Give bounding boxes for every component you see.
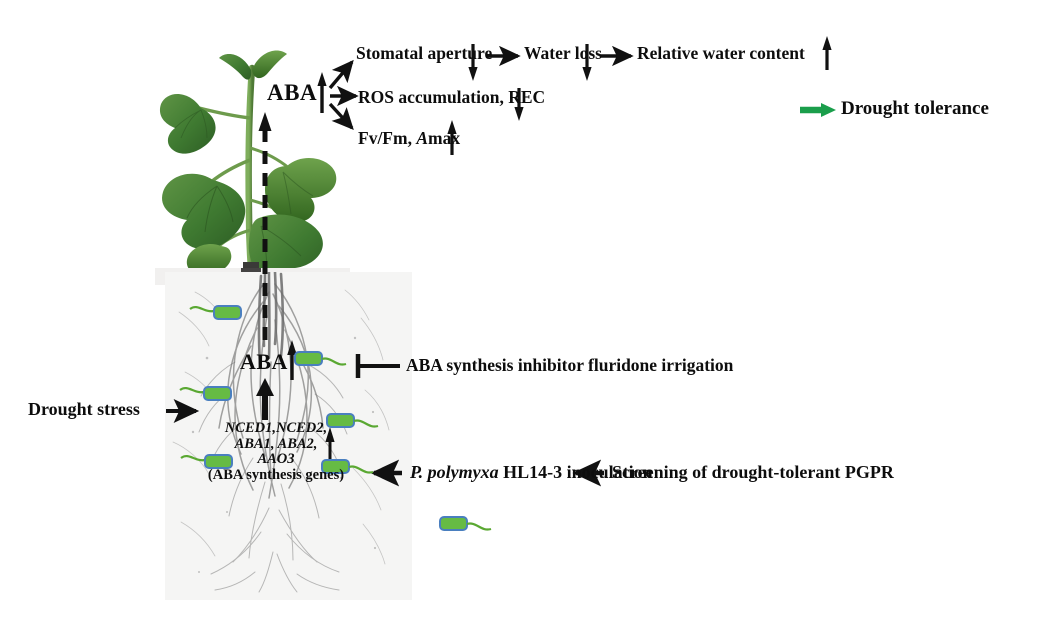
genes-line-3: AAO3 <box>194 452 358 468</box>
bacterium-icon <box>190 306 241 319</box>
fluridone-inhibitor-label: ABA synthesis inhibitor fluridone irriga… <box>406 355 733 376</box>
aba-synthesis-genes-block: NCED1,NCED2, ABA1, ABA2, AAO3 (ABA synth… <box>194 421 358 483</box>
root-aba-label: ABA <box>240 349 288 375</box>
photosynthesis-label: Fv/Fm, Amax <box>358 128 460 149</box>
amax-suffix: max <box>428 128 460 148</box>
shoot-aba-label: ABA <box>267 80 317 106</box>
relative-water-content-label: Relative water content <box>637 43 805 64</box>
amax-italic-a: A <box>416 128 428 148</box>
bacterium-icon <box>440 517 491 530</box>
screening-label: Screening of drought-tolerant PGPR <box>612 462 894 483</box>
bacterium-icon <box>180 387 231 400</box>
drought-stress-label: Drought stress <box>28 399 140 420</box>
fvfm-text: Fv/Fm, <box>358 128 416 148</box>
ros-accumulation-label: ROS accumulation, REC <box>358 87 545 108</box>
bacterium-icon <box>295 352 346 365</box>
species-name-italic: P. polymyxa <box>410 462 499 482</box>
genes-caption: (ABA synthesis genes) <box>194 468 358 484</box>
figure-canvas: ABA Stomatal aperture Water loss Relativ… <box>0 0 1056 625</box>
stomatal-aperture-label: Stomatal aperture <box>356 43 492 64</box>
genes-line-2: ABA1, ABA2, <box>194 437 358 453</box>
drought-tolerance-label: Drought tolerance <box>841 98 989 120</box>
genes-line-1: NCED1,NCED2, <box>194 421 358 437</box>
water-loss-label: Water loss <box>524 43 602 64</box>
